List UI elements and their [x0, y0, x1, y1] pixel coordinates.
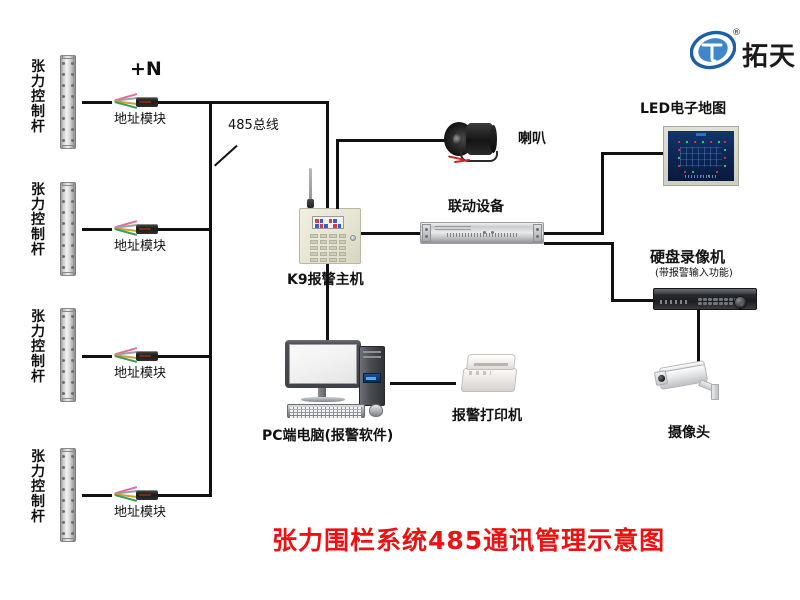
- alarm-speaker: [444, 118, 506, 164]
- brand-name: 拓天: [742, 36, 796, 73]
- host-keypad[interactable]: [310, 234, 346, 262]
- address-module-4: [112, 484, 158, 506]
- alarm-printer: [462, 352, 520, 392]
- expansion-label: +N: [130, 58, 162, 80]
- diagram-title: 张力围栏系统485通讯管理示意图: [272, 521, 665, 557]
- diagram-canvas: ® 拓天 张力控制杆 地址模块 张力控制杆 地址模块: [0, 0, 800, 600]
- pc-mouse[interactable]: [369, 404, 383, 417]
- rs485-bus-line: [209, 101, 212, 497]
- cctv-camera: [655, 358, 729, 416]
- host-to-speaker-riser: [336, 139, 339, 209]
- post-insulators: [61, 62, 75, 142]
- speaker-wires: [448, 153, 474, 162]
- address-module-3: [112, 345, 158, 367]
- ledmap-riser: [601, 152, 604, 234]
- linkage-to-dvr-run: [544, 242, 614, 245]
- pc-tower: [359, 346, 385, 406]
- camera-label: 摄像头: [668, 425, 710, 441]
- bus-label: 485总线: [228, 119, 279, 134]
- post-label-1: 张力控制杆: [30, 60, 46, 136]
- speaker-label: 喇叭: [518, 131, 546, 147]
- bus-to-host-drop: [326, 101, 329, 208]
- host-antenna-icon: [309, 168, 312, 208]
- dvr-label: 硬盘录像机: [650, 249, 725, 266]
- module-label-3: 地址模块: [114, 367, 166, 382]
- post-label-3: 张力控制杆: [30, 310, 46, 386]
- post-insulators: [61, 189, 75, 269]
- brand-logo: ® 拓天: [690, 30, 800, 74]
- post-label-4: 张力控制杆: [30, 450, 46, 526]
- ledmap-feed: [601, 152, 663, 155]
- host-to-linkage-wire: [361, 232, 421, 235]
- bus-leader-line: [214, 145, 238, 167]
- dvr-to-camera-wire: [697, 310, 700, 362]
- printer-label: 报警打印机: [452, 408, 522, 424]
- dvr-feed: [611, 299, 655, 302]
- tension-control-post-2: [60, 182, 76, 276]
- tension-control-post-3: [60, 308, 76, 402]
- tension-control-post-1: [60, 55, 76, 149]
- post-to-module-wire-2: [82, 228, 112, 231]
- post-to-module-wire-1: [82, 101, 112, 104]
- module-label-4: 地址模块: [114, 506, 166, 521]
- host-display: [312, 216, 344, 229]
- host-indicator-icon: [350, 235, 356, 241]
- host-to-pc-wire: [326, 264, 329, 340]
- linkage-label: 联动设备: [448, 199, 504, 215]
- led-map-label: LED电子地图: [640, 101, 726, 117]
- hard-disk-recorder: [653, 288, 757, 310]
- pc-to-printer-wire: [390, 382, 456, 385]
- address-module-2: [112, 218, 158, 240]
- dvr-jog-dial-icon: [734, 296, 747, 309]
- tuotian-logo-icon: [690, 30, 736, 70]
- tension-control-post-4: [60, 448, 76, 542]
- post-insulators: [61, 315, 75, 395]
- k9-alarm-host[interactable]: [299, 208, 361, 264]
- post-label-2: 张力控制杆: [30, 183, 46, 259]
- pc-monitor: [285, 340, 361, 388]
- linkage-to-ledmap-run: [544, 232, 604, 235]
- dvr-sub-label: (带报警输入功能): [655, 268, 733, 280]
- host-to-speaker-run: [336, 139, 448, 142]
- module-label-1: 地址模块: [114, 113, 166, 128]
- post-to-module-wire-4: [82, 494, 112, 497]
- module-to-bus-wire-2: [158, 228, 212, 231]
- led-electronic-map: [663, 126, 739, 186]
- post-to-module-wire-3: [82, 355, 112, 358]
- module-label-2: 地址模块: [114, 240, 166, 255]
- linkage-device: [420, 222, 544, 244]
- address-module-1: [112, 91, 158, 113]
- post-insulators: [61, 455, 75, 535]
- module-to-bus-wire-4: [158, 494, 212, 497]
- module-to-bus-wire-3: [158, 355, 212, 358]
- pc-keyboard[interactable]: [287, 404, 365, 418]
- registered-mark: ®: [732, 28, 741, 38]
- pc-label: PC端电脑(报警软件): [262, 428, 393, 444]
- dvr-drop: [611, 242, 614, 302]
- pc-workstation: [285, 340, 397, 420]
- bus-top-run: [209, 101, 329, 104]
- module-to-bus-wire-1: [158, 101, 212, 104]
